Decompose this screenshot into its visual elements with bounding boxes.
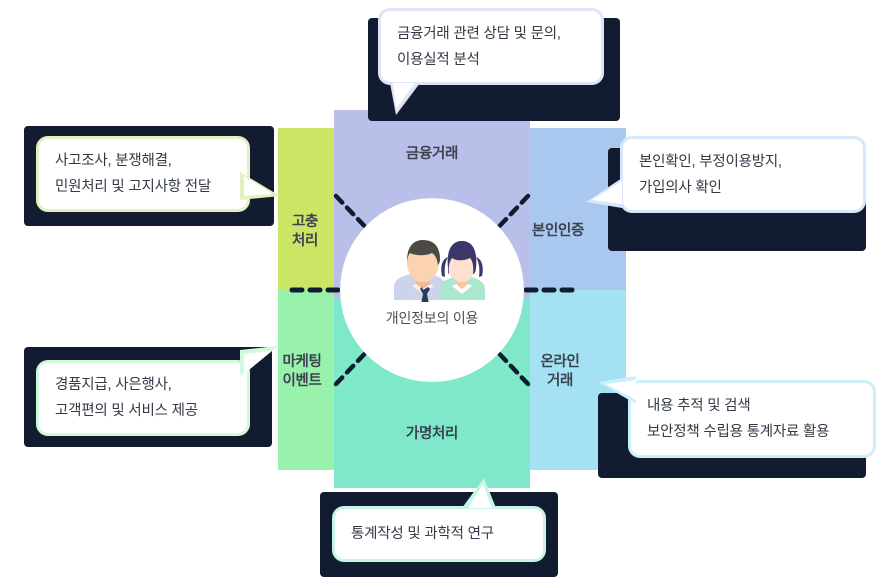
callout-line: 통계작성 및 과학적 연구 [351,521,527,547]
callout-body: 사고조사, 분쟁해결, 민원처리 및 고지사항 전달 [36,136,250,212]
callout-line: 민원처리 및 고지사항 전달 [55,174,231,200]
segment-label-online-transaction: 온라인 거래 [514,353,606,391]
callout-tail-icon [240,346,282,382]
callout-body: 내용 추적 및 검색 보안정책 수립용 통계자료 활용 [628,380,876,458]
center-hub: 개인정보의 이용 [342,200,522,380]
callout-tail-icon [240,168,284,204]
callout-tail-icon [598,376,638,410]
callout-tail-icon [586,178,624,214]
callout-line: 내용 추적 및 검색 [647,393,857,419]
center-label: 개인정보의 이용 [386,308,478,328]
callout-line: 사고조사, 분쟁해결, [55,148,231,174]
callout-tail-icon [462,478,500,512]
callout-line: 경품지급, 사은행사, [55,372,231,398]
segment-label-identity-verification: 본인인증 [512,222,604,241]
callout-line: 본인확인, 부정이용방지, [639,149,847,175]
callout-line: 가입의사 확인 [639,175,847,201]
diagram-canvas: 개인정보의 이용 금융거래 본인인증 온라인 거래 가명처리 마케팅 이벤트 고… [0,0,876,580]
callout-body: 경품지급, 사은행사, 고객편의 및 서비스 제공 [36,360,250,436]
callout-line: 고객편의 및 서비스 제공 [55,398,231,424]
callout-line: 보안정책 수립용 통계자료 활용 [647,419,857,445]
callout-body: 통계작성 및 과학적 연구 [332,506,546,562]
segment-label-financial-transaction: 금융거래 [382,145,482,164]
callout-body: 본인확인, 부정이용방지, 가입의사 확인 [620,136,866,213]
callout-body: 금융거래 관련 상담 및 문의, 이용실적 분석 [378,8,604,85]
callout-line: 금융거래 관련 상담 및 문의, [397,21,585,47]
callout-tail-icon [390,83,426,117]
segment-label-pseudonym-processing: 가명처리 [382,425,482,444]
callout-line: 이용실적 분석 [397,47,585,73]
two-people-icon [378,230,486,302]
segment-label-complaint-handling: 고충 처리 [262,213,348,251]
